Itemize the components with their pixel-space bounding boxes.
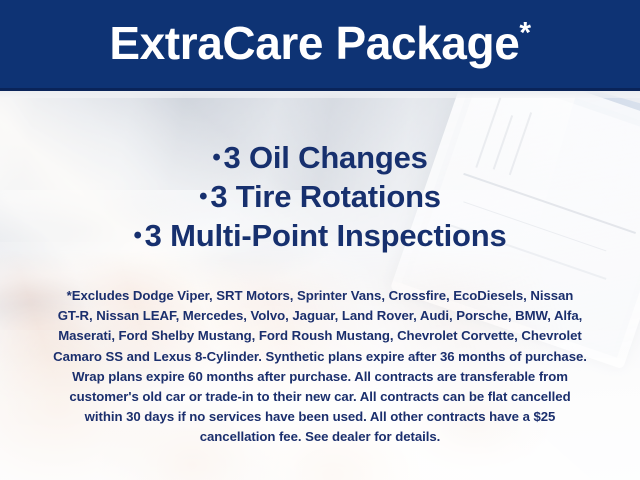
disclaimer-line: GT-R, Nissan LEAF, Mercedes, Volvo, Jagu…: [28, 306, 612, 326]
disclaimer-text: *Excludes Dodge Viper, SRT Motors, Sprin…: [28, 286, 612, 448]
benefit-item-label: 3 Multi-Point Inspections: [145, 218, 507, 253]
benefit-item: •3 Tire Rotations: [0, 177, 640, 216]
disclaimer-line: cancellation fee. See dealer for details…: [28, 427, 612, 447]
header-bottom-rule: [0, 88, 640, 91]
page-title-asterisk: *: [519, 16, 530, 49]
disclaimer-line: within 30 days if no services have been …: [28, 407, 612, 427]
header-banner: ExtraCare Package*: [0, 0, 640, 88]
benefits-list: •3 Oil Changes •3 Tire Rotations •3 Mult…: [0, 138, 640, 255]
disclaimer-line: Maserati, Ford Shelby Mustang, Ford Rous…: [28, 326, 612, 346]
disclaimer-line: Wrap plans expire 60 months after purcha…: [28, 367, 612, 387]
bullet-icon: •: [199, 183, 210, 210]
extracare-package-promo-card: ExtraCare Package* •3 Oil Changes •3 Tir…: [0, 0, 640, 480]
disclaimer-line: *Excludes Dodge Viper, SRT Motors, Sprin…: [28, 286, 612, 306]
disclaimer-line: customer's old car or trade-in to their …: [28, 387, 612, 407]
disclaimer-line: Camaro SS and Lexus 8-Cylinder. Syntheti…: [28, 347, 612, 367]
page-title: ExtraCare Package*: [109, 20, 530, 69]
bullet-icon: •: [133, 222, 144, 249]
benefit-item: •3 Multi-Point Inspections: [0, 216, 640, 255]
header-underglow: [0, 91, 640, 98]
page-title-text: ExtraCare Package: [109, 17, 519, 69]
bullet-icon: •: [212, 144, 223, 171]
benefit-item: •3 Oil Changes: [0, 138, 640, 177]
benefit-item-label: 3 Oil Changes: [224, 140, 428, 175]
benefit-item-label: 3 Tire Rotations: [210, 179, 441, 214]
